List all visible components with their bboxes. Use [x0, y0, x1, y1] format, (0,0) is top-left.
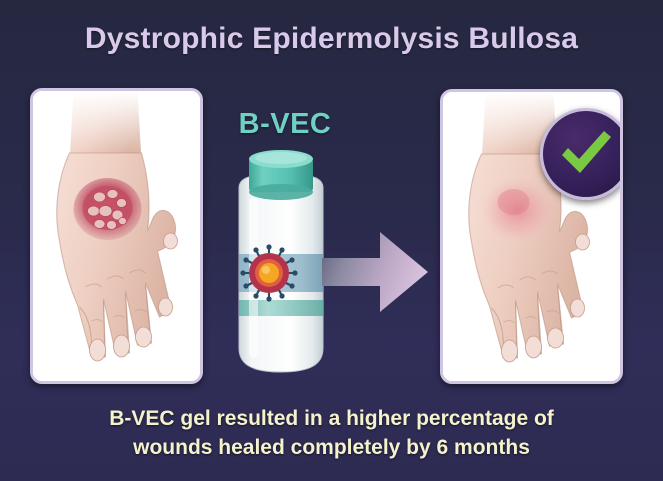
caption-line-2: wounds healed completely by 6 months [0, 433, 663, 462]
wound-lesion [73, 178, 141, 240]
healed-mark [481, 177, 553, 243]
panel-before-treatment [30, 88, 203, 384]
caption-line-1: B-VEC gel resulted in a higher percentag… [0, 404, 663, 433]
page-title: Dystrophic Epidermolysis Bullosa [0, 22, 663, 56]
caption: B-VEC gel resulted in a higher percentag… [0, 404, 663, 462]
hand-illustration-wounded [33, 91, 200, 381]
panel-after-treatment [440, 89, 623, 384]
bvec-bottle-illustration [225, 150, 337, 376]
green-check-badge [540, 108, 623, 200]
hand-with-wound-image [33, 91, 200, 381]
right-arrow [322, 226, 430, 318]
product-name-label: B-VEC [205, 108, 365, 141]
check-icon [558, 129, 614, 179]
infographic-canvas: Dystrophic Epidermolysis Bullosa [0, 0, 663, 481]
